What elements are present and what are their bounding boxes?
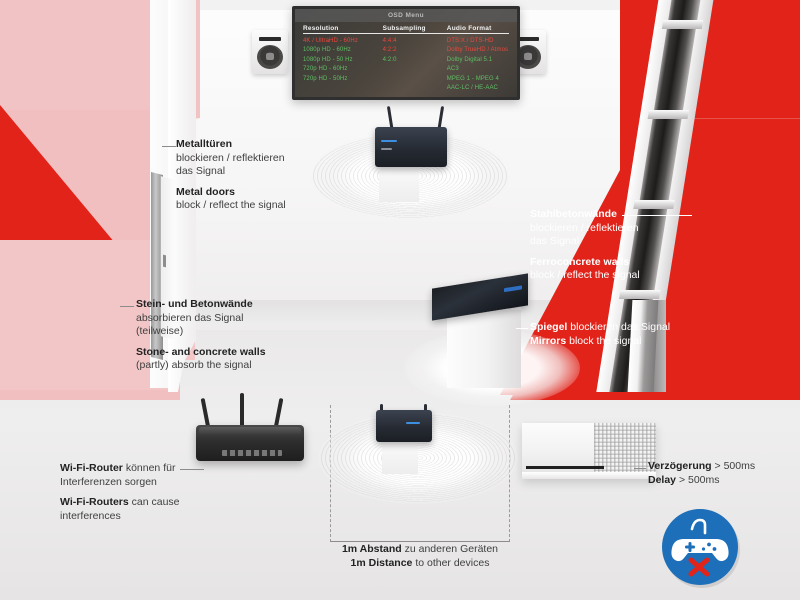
osd-cell-audio: MPEG 1 - MPEG 4 <box>447 75 509 85</box>
mirrors-en-rest: block the signal <box>566 335 641 347</box>
metal-doors-de-title: Metalltüren <box>176 138 336 152</box>
distance-en-title: 1m Distance <box>351 557 413 569</box>
leader-stone-walls <box>120 306 134 307</box>
stone-walls-en-line1: (partly) absorb the signal <box>136 359 336 373</box>
osd-cell-audio: Dolby TrueHD / Atmos <box>447 46 509 56</box>
callout-distance: 1m Abstand zu anderen Geräten 1m Distanc… <box>320 543 520 570</box>
osd-cell-audio: DTS:X / DTS-HD <box>447 37 509 47</box>
router-antenna-2 <box>240 393 244 429</box>
speaker-slot <box>259 37 281 41</box>
osd-table-row: 1080p HD - 50 Hz4:2:0Dolby Digital 5.1 <box>303 56 509 66</box>
osd-table-rows: 4K / UltraHD - 60Hz4:4:4DTS:X / DTS-HD10… <box>303 37 509 95</box>
infographic-scene: OSD Menu Resolution Subsampling Audio Fo… <box>0 0 800 600</box>
ferroconcrete-de-title: Stahlbetonwände <box>530 208 720 222</box>
wifi-de-title: Wi-Fi-Router <box>60 462 123 474</box>
osd-menu-title: OSD Menu <box>295 9 517 22</box>
mirrors-de-rest: blockieren das Signal <box>567 321 670 333</box>
osd-cell-subsampling: 4:4:4 <box>383 37 447 47</box>
distance-en-rest: to other devices <box>412 557 489 569</box>
osd-cell-audio: AAC-LC / HE-AAC <box>447 84 509 94</box>
wireless-receiver-bottom <box>376 410 432 442</box>
stone-walls-de-title: Stein- und Betonwände <box>136 298 336 312</box>
gamepad-no-icon <box>662 509 738 585</box>
osd-cell-subsampling: 4:2:0 <box>383 56 447 66</box>
device-led <box>406 422 420 424</box>
osd-table-row: AAC-LC / HE-AAC <box>303 84 509 94</box>
receiver-stand <box>379 166 419 202</box>
delay-en-rest: > 500ms <box>676 474 719 486</box>
osd-cell-subsampling <box>383 84 447 94</box>
osd-cell-subsampling <box>383 75 447 85</box>
receiver-led <box>381 148 392 150</box>
metal-doors-de-line1: blockieren / reflektieren <box>176 152 336 166</box>
speaker-slot <box>517 37 539 41</box>
metal-doors-en-title: Metal doors <box>176 186 336 200</box>
wifi-en-title: Wi-Fi-Routers <box>60 496 129 508</box>
osd-table-header: Resolution Subsampling Audio Format <box>303 25 509 34</box>
callout-metal-doors: Metalltüren blockieren / reflektieren da… <box>176 138 336 213</box>
wifi-de-rest: können für <box>123 462 176 474</box>
pedestal <box>447 310 521 388</box>
delay-de-title: Verzögerung <box>648 460 712 472</box>
router-sheen <box>199 427 301 435</box>
distance-baseline <box>330 541 510 542</box>
glass-mullion <box>648 110 689 119</box>
osd-cell-resolution: 4K / UltraHD - 60Hz <box>303 37 383 47</box>
stone-walls-en-title: Stone- and concrete walls <box>136 346 336 360</box>
stone-walls-de-line2: (teilweise) <box>136 325 336 339</box>
callout-wifi-router: Wi-Fi-Router können für Interferenzen so… <box>60 462 240 523</box>
osd-cell-resolution: 720p HD - 60Hz <box>303 65 383 75</box>
wifi-router <box>196 425 304 461</box>
wifi-en-rest: can cause <box>129 496 180 508</box>
leader-metal-doors <box>162 146 176 147</box>
osd-cell-audio: AC3 <box>447 65 509 75</box>
wireless-receiver-top <box>375 127 447 167</box>
ferroconcrete-de-line1: blockieren / reflektieren <box>530 222 720 236</box>
leader-delay <box>634 468 646 469</box>
speaker-cone <box>257 45 283 69</box>
television: OSD Menu Resolution Subsampling Audio Fo… <box>292 6 520 100</box>
glass-mullion <box>619 290 660 299</box>
delay-de-rest: > 500ms <box>712 460 755 472</box>
metal-doors-en-line1: block / reflect the signal <box>176 199 336 213</box>
game-console <box>522 423 656 479</box>
callout-delay: Verzögerung > 500ms Delay > 500ms <box>648 460 798 487</box>
osd-table-row: 720p HD - 60HzAC3 <box>303 65 509 75</box>
osd-menu-body: Resolution Subsampling Audio Format 4K /… <box>295 22 517 94</box>
osd-cell-resolution <box>303 84 383 94</box>
callout-mirrors: Spiegel blockieren das Signal Mirrors bl… <box>530 321 730 348</box>
tv-screen: OSD Menu Resolution Subsampling Audio Fo… <box>295 9 517 97</box>
osd-cell-subsampling <box>383 65 447 75</box>
mirrors-de-title: Spiegel <box>530 321 567 333</box>
osd-table-row: 4K / UltraHD - 60Hz4:4:4DTS:X / DTS-HD <box>303 37 509 47</box>
osd-table-row: 1080p HD - 60Hz4:2:2Dolby TrueHD / Atmos <box>303 46 509 56</box>
osd-col-resolution: Resolution <box>303 25 383 34</box>
osd-col-audio: Audio Format <box>447 25 509 34</box>
callout-stone-walls: Stein- und Betonwände absorbieren das Si… <box>136 298 336 373</box>
callout-ferroconcrete: Stahlbetonwände blockieren / reflektiere… <box>530 208 720 283</box>
osd-cell-resolution: 720p HD - 50Hz <box>303 75 383 85</box>
receiver-led <box>381 140 397 142</box>
leader-mirrors <box>516 328 528 329</box>
console-vent <box>594 423 656 479</box>
osd-table-row: 720p HD - 50HzMPEG 1 - MPEG 4 <box>303 75 509 85</box>
ferroconcrete-en-line1: block / reflect the signal <box>530 269 720 283</box>
osd-col-subsampling: Subsampling <box>383 25 447 34</box>
distance-de-title: 1m Abstand <box>342 543 402 555</box>
wifi-en-line2: interferences <box>60 510 240 524</box>
delay-en-title: Delay <box>648 474 676 486</box>
osd-cell-audio: Dolby Digital 5.1 <box>447 56 509 66</box>
glass-mullion <box>662 20 703 29</box>
ferroconcrete-de-line2: das Signal <box>530 235 720 249</box>
osd-cell-subsampling: 4:2:2 <box>383 46 447 56</box>
metal-doors-de-line2: das Signal <box>176 165 336 179</box>
wifi-de-line2: Interferenzen sorgen <box>60 476 240 490</box>
console-strip <box>522 472 656 479</box>
distance-de-rest: zu anderen Geräten <box>402 543 498 555</box>
stone-walls-de-line1: absorbieren das Signal <box>136 312 336 326</box>
device-stand <box>382 440 418 474</box>
console-disc-slot <box>526 466 604 469</box>
ferroconcrete-en-title: Ferroconcrete walls <box>530 256 720 270</box>
osd-cell-resolution: 1080p HD - 60Hz <box>303 46 383 56</box>
mirrors-en-title: Mirrors <box>530 335 566 347</box>
metal-door-handle <box>163 255 166 268</box>
osd-cell-resolution: 1080p HD - 50 Hz <box>303 56 383 66</box>
wall-speaker-icon <box>252 30 288 74</box>
router-ports <box>222 450 282 456</box>
